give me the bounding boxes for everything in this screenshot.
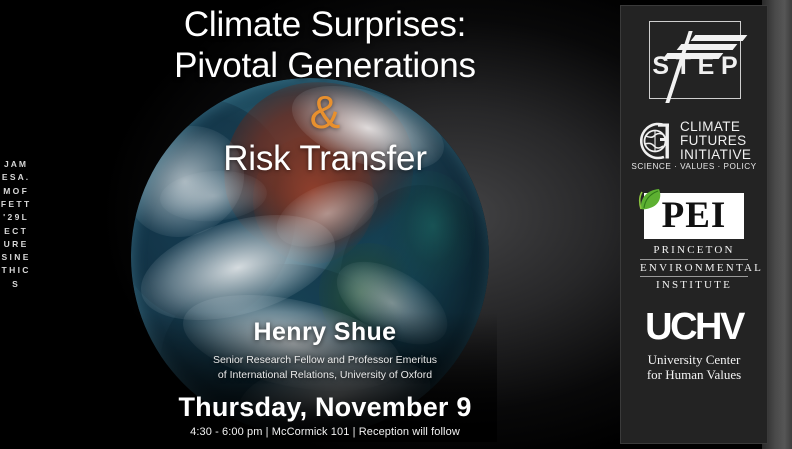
pei-name-lines: PRINCETON ENVIRONMENTAL INSTITUTE [640, 242, 748, 294]
title-ampersand: & [30, 88, 620, 136]
cfi-wordmark: CLIMATE FUTURES INITIATIVE [680, 120, 751, 161]
step-stair-bar-3-icon [691, 35, 748, 41]
lecture-series-label: J A M E S A . M O F F E T T ' 2 9 L E C … [0, 158, 30, 291]
uchv-acronym: UCHV [629, 307, 759, 347]
cfi-word-initiative: INITIATIVE [680, 148, 751, 162]
uchv-line-1: University Center [629, 352, 759, 367]
princeton-environmental-institute-logo: PEI PRINCETON ENVIRONMENTAL INSTITUTE [632, 187, 756, 291]
cfi-word-climate: CLIMATE [680, 120, 751, 134]
title-line-3: Risk Transfer [30, 138, 620, 179]
speaker-affiliation: Senior Research Fellow and Professor Eme… [30, 353, 620, 383]
speaker-affiliation-line-1: Senior Research Fellow and Professor Eme… [30, 353, 620, 368]
pei-line-environmental: ENVIRONMENTAL [640, 260, 748, 278]
title-line-1: Climate Surprises: [30, 4, 620, 45]
uchv-logo: UCHV University Center for Human Values [629, 307, 759, 379]
speaker-name: Henry Shue [30, 318, 620, 347]
event-logistics: 4:30 - 6:00 pm | McCormick 101 | Recepti… [30, 426, 620, 438]
poster-headline: Climate Surprises: Pivotal Generations &… [30, 4, 620, 179]
climate-futures-initiative-logo: CLIMATE FUTURES INITIATIVE SCIENCE · VAL… [624, 119, 764, 173]
pei-acronym: PEI [644, 193, 744, 239]
step-stair-bar-1-icon [663, 53, 724, 59]
lecture-series-rail: J A M E S A . M O F F E T T ' 2 9 L E C … [0, 0, 30, 449]
step-logo: S T E P [641, 17, 747, 103]
step-stair-bar-2-icon [677, 44, 738, 50]
speaker-block: Henry Shue Senior Research Fellow and Pr… [30, 318, 620, 383]
title-line-2: Pivotal Generations [30, 45, 620, 86]
pei-line-princeton: PRINCETON [640, 242, 748, 260]
step-letter-p: P [721, 53, 738, 79]
cfi-tagline: SCIENCE · VALUES · POLICY [630, 162, 758, 171]
pei-line-institute: INSTITUTE [640, 277, 748, 294]
event-date: Thursday, November 9 [30, 392, 620, 423]
lecture-poster: J A M E S A . M O F F E T T ' 2 9 L E C … [0, 0, 792, 449]
cfi-word-futures: FUTURES [680, 134, 751, 148]
event-details-block: Thursday, November 9 4:30 - 6:00 pm | Mc… [30, 392, 620, 438]
sponsor-logo-panel: S T E P [620, 5, 768, 444]
uchv-wordmark: University Center for Human Values [629, 352, 759, 382]
speaker-affiliation-line-2: of International Relations, University o… [30, 368, 620, 383]
uchv-line-2: for Human Values [629, 367, 759, 382]
cfi-globe-monogram-icon [634, 121, 678, 161]
